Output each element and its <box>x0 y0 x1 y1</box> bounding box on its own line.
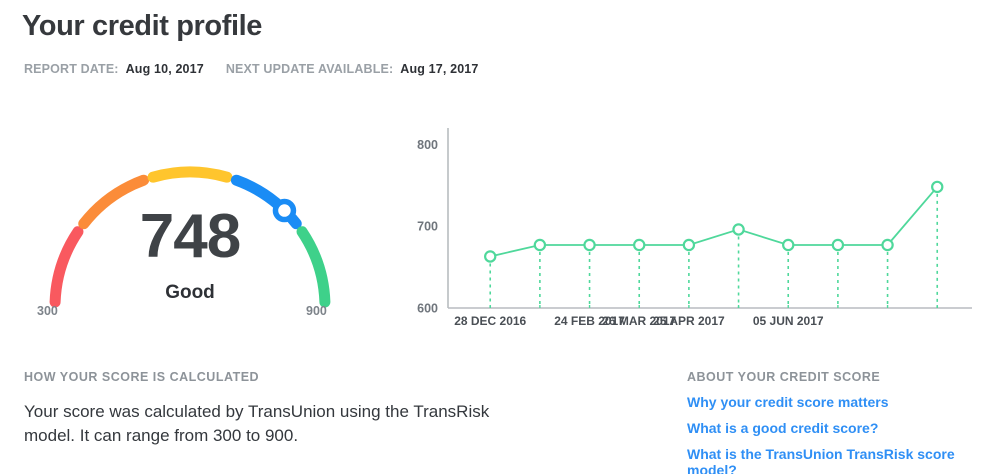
next-update-label: NEXT UPDATE AVAILABLE: <box>226 62 393 76</box>
chart-data-point[interactable] <box>634 240 644 250</box>
chart-x-tick-label: 05 JUN 2017 <box>753 314 824 328</box>
credit-profile-page: Your credit profile REPORT DATE: Aug 10,… <box>0 0 1000 474</box>
chart-droplines <box>490 194 937 308</box>
how-calculated-section: HOW YOUR SCORE IS CALCULATED Your score … <box>24 370 524 448</box>
chart-data-point[interactable] <box>535 240 545 250</box>
chart-axes <box>448 128 972 308</box>
chart-data-point[interactable] <box>485 251 495 261</box>
about-score-heading: ABOUT YOUR CREDIT SCORE <box>687 370 987 384</box>
score-history-chart: 600700800 28 DEC 201624 FEB 201726 MAR 2… <box>400 122 980 340</box>
chart-data-point[interactable] <box>783 240 793 250</box>
gauge-max-label: 900 <box>306 304 327 318</box>
score-value: 748 <box>20 206 360 268</box>
chart-data-point[interactable] <box>684 240 694 250</box>
chart-series-line <box>490 187 937 257</box>
next-update-value: Aug 17, 2017 <box>400 62 478 76</box>
report-date-value: Aug 10, 2017 <box>126 62 204 76</box>
chart-data-point[interactable] <box>833 240 843 250</box>
about-link-why-matters[interactable]: Why your credit score matters <box>687 394 987 410</box>
chart-data-point[interactable] <box>584 240 594 250</box>
chart-x-tick-label: 28 DEC 2016 <box>454 314 526 328</box>
page-title: Your credit profile <box>22 10 262 43</box>
chart-y-tick-label: 700 <box>417 220 438 234</box>
chart-y-tick-label: 800 <box>417 138 438 152</box>
chart-data-points <box>485 182 942 262</box>
gauge-segment-average <box>153 172 227 177</box>
about-link-transrisk-model[interactable]: What is the TransUnion TransRisk score m… <box>687 446 987 474</box>
report-meta-row: REPORT DATE: Aug 10, 2017 NEXT UPDATE AV… <box>24 62 479 76</box>
chart-y-ticks: 600700800 <box>417 138 438 316</box>
credit-score-gauge: 748 Good 300 900 <box>20 122 360 332</box>
chart-x-tick-label: 25 APR 2017 <box>653 314 725 328</box>
chart-svg: 600700800 28 DEC 201624 FEB 201726 MAR 2… <box>400 122 980 340</box>
how-calculated-heading: HOW YOUR SCORE IS CALCULATED <box>24 370 524 384</box>
how-calculated-body: Your score was calculated by TransUnion … <box>24 400 524 448</box>
report-date-label: REPORT DATE: <box>24 62 119 76</box>
about-score-section: ABOUT YOUR CREDIT SCORE Why your credit … <box>687 370 987 474</box>
chart-x-ticks: 28 DEC 201624 FEB 201726 MAR 201725 APR … <box>454 314 824 328</box>
chart-data-point[interactable] <box>882 240 892 250</box>
chart-y-tick-label: 600 <box>417 302 438 316</box>
score-rating: Good <box>20 282 360 304</box>
chart-line-series <box>490 187 937 257</box>
gauge-min-label: 300 <box>37 304 58 318</box>
chart-data-point[interactable] <box>733 224 743 234</box>
about-link-good-score[interactable]: What is a good credit score? <box>687 420 987 436</box>
chart-data-point[interactable] <box>932 182 942 192</box>
